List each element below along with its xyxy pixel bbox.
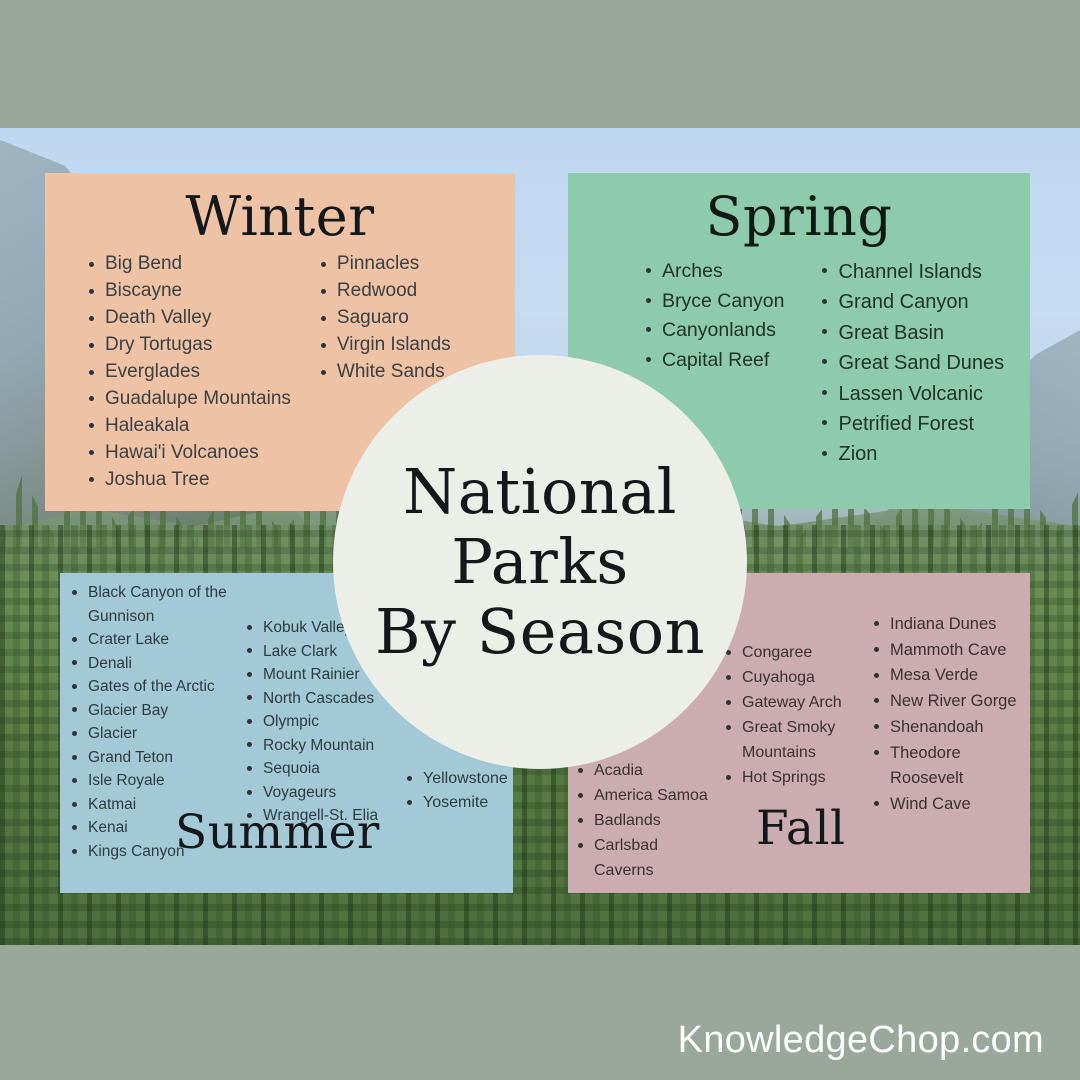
list-item: Denali [68,652,243,676]
list-item: Glacier Bay [68,699,243,723]
fall-park-list-3: Indiana Dunes Mammoth Cave Mesa Verde Ne… [870,612,1035,818]
list-item: Yosemite [403,791,523,815]
list-item: Glacier [68,722,243,746]
list-item: Virgin Islands [317,332,451,359]
center-title-circle: National Parks By Season [333,355,747,769]
list-item: Petrified Forest [818,409,1004,439]
list-item: White Sands [317,359,451,386]
list-item: Grand Canyon [818,287,1004,317]
fall-park-list-2: Congaree Cuyahoga Gateway Arch Great Smo… [722,641,870,791]
title-line-2: Parks [451,527,628,597]
list-item: Voyageurs [243,781,403,805]
list-item: Mesa Verde [870,663,1035,689]
list-item: Congaree [722,641,870,666]
list-item: Hawai'i Volcanoes [85,440,291,467]
list-item: Dry Tortugas [85,332,291,359]
bottom-frame-bar: KnowledgeChop.com [0,945,1080,1080]
list-item: Crater Lake [68,628,243,652]
title-line-3: By Season [375,597,705,667]
list-item: Indiana Dunes [870,612,1035,638]
infographic-poster: Winter Big Bend Biscayne Death Valley Dr… [0,0,1080,1080]
list-item: Hot Springs [722,766,870,791]
list-item: Acadia [574,759,722,784]
season-title-spring: Spring [568,185,1030,248]
list-item: Joshua Tree [85,467,291,494]
list-item: Gates of the Arctic [68,675,243,699]
list-item: Big Bend [85,251,291,278]
list-item: Everglades [85,359,291,386]
list-item: Olympic [243,710,403,734]
spring-park-list-2: Channel Islands Grand Canyon Great Basin… [818,257,1004,470]
list-item: Lassen Volcanic [818,379,1004,409]
list-item: Biscayne [85,278,291,305]
list-item: Capital Reef [642,346,784,376]
list-item: Gateway Arch [722,691,870,716]
list-item: Great Smoky Mountains [722,716,870,766]
season-title-fall: Fall [756,801,846,856]
summer-park-list-3: Yellowstone Yosemite [403,767,523,816]
list-item: Great Basin [818,318,1004,348]
list-item: Canyonlands [642,316,784,346]
fall-column-3: Indiana Dunes Mammoth Cave Mesa Verde Ne… [870,579,1035,884]
spring-column-2: Channel Islands Grand Canyon Great Basin… [818,257,1004,470]
season-title-summer: Summer [175,805,380,860]
list-item: Isle Royale [68,769,243,793]
title-line-1: National [403,457,677,527]
list-item: Arches [642,257,784,287]
list-item: Theodore Roosevelt [870,741,1035,792]
list-item: New River Gorge [870,689,1035,715]
list-item: Redwood [317,278,451,305]
fall-park-list-1: Acadia America Samoa Badlands Carlsbad C… [574,759,722,884]
list-item: Sequoia [243,757,403,781]
list-item: Cuyahoga [722,666,870,691]
top-frame-bar [0,0,1080,128]
list-item: Carlsbad Caverns [574,834,722,884]
list-item: Wind Cave [870,792,1035,818]
list-item: Haleakala [85,413,291,440]
list-item: Death Valley [85,305,291,332]
list-item: Saguaro [317,305,451,332]
list-item: Badlands [574,809,722,834]
list-item: Pinnacles [317,251,451,278]
list-item: Rocky Mountain [243,734,403,758]
winter-park-list-1: Big Bend Biscayne Death Valley Dry Tortu… [85,251,291,494]
season-title-winter: Winter [45,185,515,248]
list-item: Shenandoah [870,715,1035,741]
list-item: Guadalupe Mountains [85,386,291,413]
list-item: America Samoa [574,784,722,809]
watermark-text: KnowledgeChop.com [678,1019,1044,1062]
list-item: Yellowstone [403,767,523,791]
spring-park-list-1: Arches Bryce Canyon Canyonlands Capital … [642,257,784,376]
list-item: Channel Islands [818,257,1004,287]
list-item: Zion [818,439,1004,469]
list-item: Black Canyon of the Gunnison [68,581,243,628]
winter-park-list-2: Pinnacles Redwood Saguaro Virgin Islands… [317,251,451,386]
list-item: Great Sand Dunes [818,348,1004,378]
list-item: Grand Teton [68,746,243,770]
list-item: Bryce Canyon [642,287,784,317]
winter-column-1: Big Bend Biscayne Death Valley Dry Tortu… [85,251,291,494]
list-item: Mammoth Cave [870,638,1035,664]
